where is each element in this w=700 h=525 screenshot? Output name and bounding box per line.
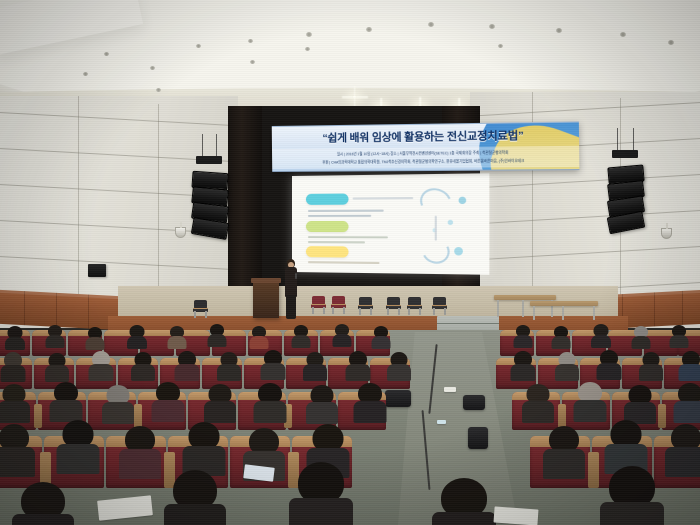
audience-person xyxy=(347,351,369,377)
presenter-legs xyxy=(286,295,296,319)
downlight-icon xyxy=(306,32,312,37)
dome-camera-icon xyxy=(661,228,672,239)
audience-person xyxy=(52,382,80,416)
audience-person xyxy=(552,326,570,348)
audience-person xyxy=(0,384,28,418)
audience-person xyxy=(512,351,534,377)
audience-person xyxy=(218,352,240,378)
seat-armrest xyxy=(134,404,142,428)
audience-person-foreground xyxy=(18,482,68,525)
stage-chair xyxy=(358,297,373,315)
audience-person xyxy=(598,350,620,376)
handout-paper-foreground xyxy=(493,506,538,525)
presenter-torso xyxy=(285,267,297,297)
downlight-icon xyxy=(366,27,372,32)
audience-person xyxy=(168,326,186,348)
handout-paper xyxy=(444,387,456,392)
audience-person xyxy=(626,385,654,419)
audience-person xyxy=(304,352,326,378)
audience-person xyxy=(608,420,644,466)
auditorium-photo: “쉽게 배워 임상에 활용하는 전신교정치료법” 일시 | 2016년 1월 1… xyxy=(0,0,700,525)
slide-pill-step-3 xyxy=(306,246,349,257)
backpack xyxy=(468,427,488,449)
audience-person xyxy=(333,324,351,346)
downlight-icon xyxy=(104,52,109,56)
audience-person-foreground xyxy=(170,470,220,525)
stage-chair xyxy=(432,297,447,315)
audience-person xyxy=(46,325,64,347)
audience-person xyxy=(206,384,234,418)
downlight-icon xyxy=(150,66,155,70)
dome-camera-icon xyxy=(175,227,186,238)
seat-armrest xyxy=(588,452,599,488)
audience-person xyxy=(670,325,688,347)
seat-armrest xyxy=(34,404,42,428)
audience-person xyxy=(676,383,700,417)
seat-armrest xyxy=(658,404,666,428)
backpack xyxy=(463,395,485,410)
stage-chair xyxy=(386,297,401,315)
audience-person xyxy=(388,352,410,378)
audience-person-foreground xyxy=(606,466,658,525)
audience-person xyxy=(132,352,154,378)
stage-table xyxy=(530,301,598,306)
audience-person-foreground xyxy=(296,462,346,525)
audience-person xyxy=(128,325,146,347)
audience-person xyxy=(154,382,182,416)
audience-person xyxy=(556,352,578,378)
downlight-icon xyxy=(556,28,562,33)
slide-surface xyxy=(292,173,489,275)
audience-person xyxy=(250,326,268,348)
audience-person xyxy=(632,326,650,348)
stage-chair xyxy=(311,296,326,314)
lectern xyxy=(253,281,279,318)
downlight-icon xyxy=(428,22,434,27)
handout-paper xyxy=(437,420,446,424)
stage-chair xyxy=(407,297,422,315)
seat-armrest xyxy=(558,404,566,428)
audience-person xyxy=(576,382,604,416)
audience-person xyxy=(592,324,610,346)
speaker-rigging-frame xyxy=(196,156,222,164)
slide-pill-step-2 xyxy=(306,221,349,232)
audience-person xyxy=(90,351,112,377)
stage-chair xyxy=(193,300,208,318)
audience-person-foreground xyxy=(438,478,490,525)
audience-person xyxy=(546,426,582,472)
audience-person xyxy=(0,424,32,470)
audience-person xyxy=(372,326,390,348)
audience-person xyxy=(640,352,662,378)
downlight-icon xyxy=(305,47,310,51)
audience-person xyxy=(176,351,198,377)
downlight-icon xyxy=(248,39,253,43)
presenter-person xyxy=(284,259,298,319)
audience-person xyxy=(308,385,336,419)
audience-person xyxy=(292,325,310,347)
audience-person xyxy=(208,324,226,346)
downlight-icon xyxy=(498,44,503,48)
audience-person xyxy=(2,352,24,378)
downlight-icon xyxy=(250,60,255,64)
audience-person xyxy=(356,383,384,417)
wall-mounted-speaker xyxy=(88,264,106,277)
downlight-icon xyxy=(668,40,674,45)
audience-person xyxy=(86,327,104,349)
audience-person xyxy=(6,326,24,348)
downlight-icon xyxy=(83,72,88,76)
stage-table xyxy=(494,295,556,300)
audience-person xyxy=(668,424,700,470)
backpack xyxy=(385,390,411,407)
audience-person xyxy=(104,385,132,419)
audience-person xyxy=(186,422,222,468)
audience-person xyxy=(524,384,552,418)
downlight-icon xyxy=(620,32,626,37)
audience-person xyxy=(122,426,158,472)
audience-person xyxy=(60,420,96,466)
stage-chair xyxy=(331,296,346,314)
audience-person xyxy=(262,350,284,376)
downlight-icon xyxy=(156,88,161,92)
downlight-lit-icon xyxy=(352,95,357,99)
event-banner: “쉽게 배워 임상에 활용하는 전신교정치료법” 일시 | 2016년 1월 1… xyxy=(272,121,580,172)
downlight-icon xyxy=(489,24,495,29)
slide-pill-step-1 xyxy=(306,194,349,205)
speaker-rigging-frame xyxy=(612,150,638,158)
audience-person xyxy=(256,383,284,417)
downlight-icon xyxy=(196,44,201,48)
audience-person xyxy=(46,353,68,379)
audience-person xyxy=(514,325,532,347)
projection-screen xyxy=(292,173,489,275)
handheld-microphone-icon xyxy=(295,273,297,279)
audience-person xyxy=(680,351,700,377)
